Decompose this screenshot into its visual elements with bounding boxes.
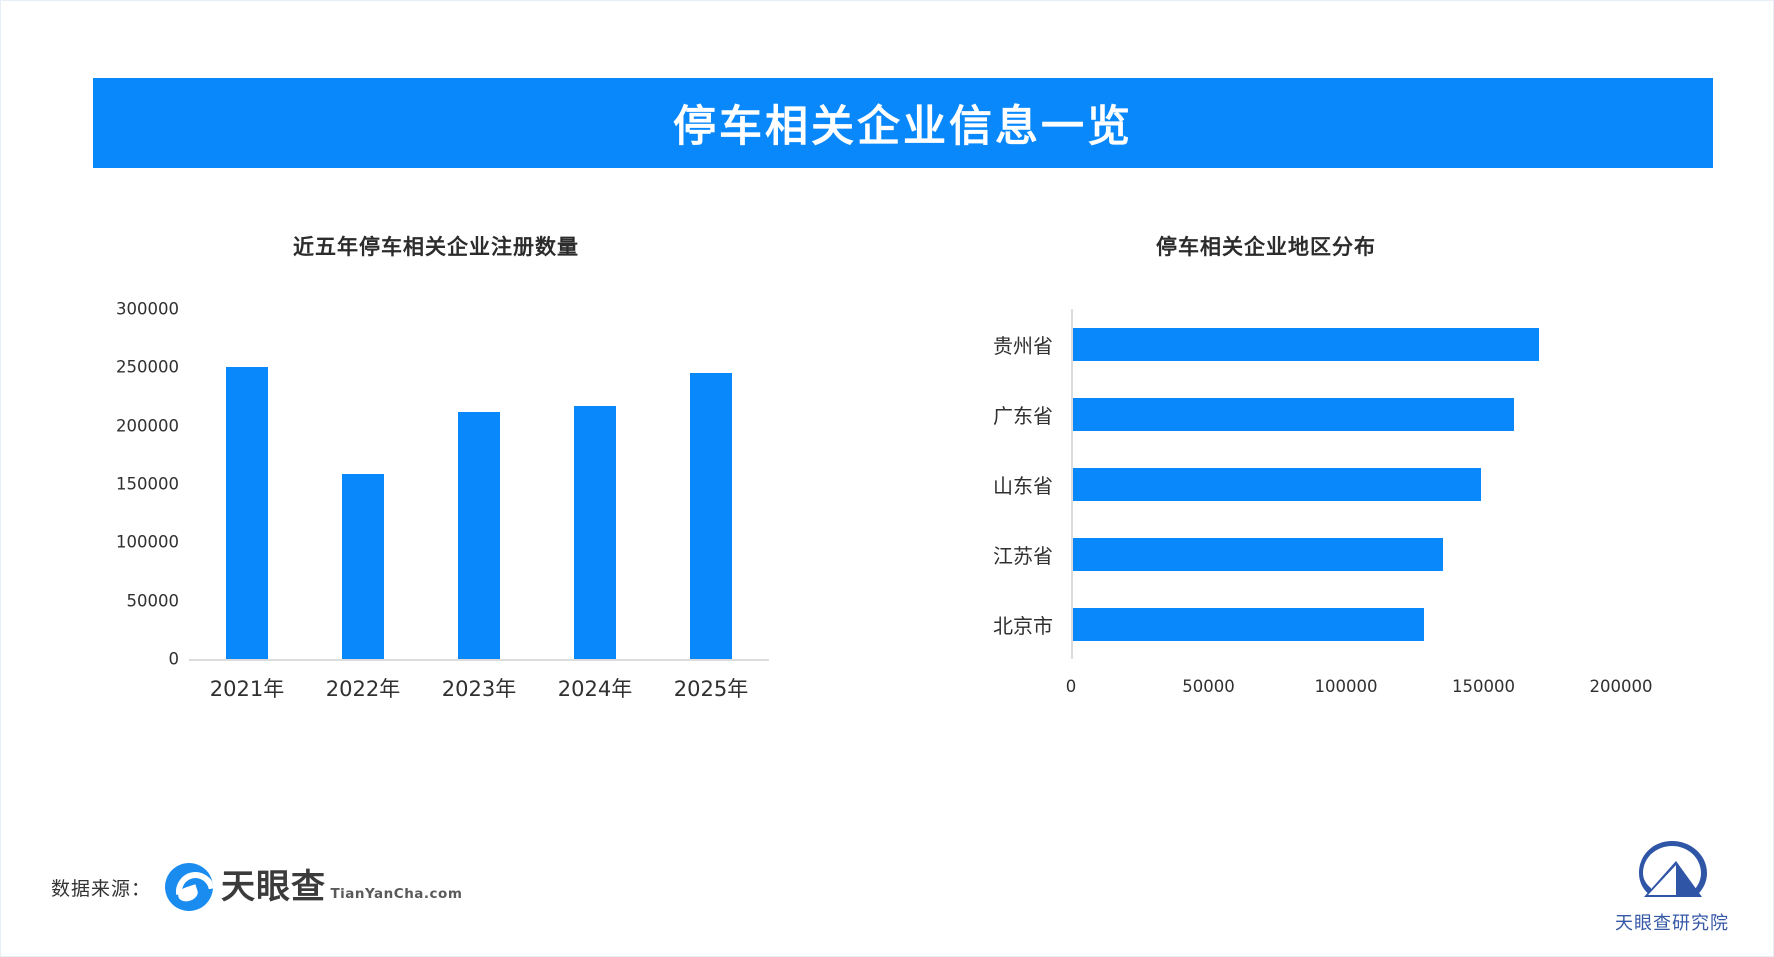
tianyancha-logo: 天眼查 TianYanCha.com xyxy=(165,863,462,911)
vbar-x-axis: 2021年2022年2023年2024年2025年 xyxy=(189,673,769,703)
hbar-category-label: 山东省 xyxy=(961,470,1071,499)
vbar-2024年 xyxy=(574,406,616,659)
vbar-y-tick: 200000 xyxy=(116,416,179,435)
vbar-y-tick: 100000 xyxy=(116,533,179,552)
hbar-row: 贵州省 xyxy=(961,309,1621,379)
vbar-y-tick: 0 xyxy=(169,650,180,669)
hbar-category-label: 江苏省 xyxy=(961,540,1071,569)
vbar-2023年 xyxy=(458,412,500,659)
vbar-column xyxy=(189,309,305,659)
vbar-x-tick: 2023年 xyxy=(421,673,537,703)
region-distribution-chart: 贵州省广东省山东省江苏省北京市 050000100000150000200000 xyxy=(961,309,1661,729)
header-banner: 停车相关企业信息一览 xyxy=(93,78,1713,168)
hbar-row: 北京市 xyxy=(961,589,1621,659)
institute-name: 天眼查研究院 xyxy=(1615,909,1729,935)
hbar-category-label: 贵州省 xyxy=(961,330,1071,359)
hbar-track xyxy=(1071,309,1621,379)
hbar-track xyxy=(1071,449,1621,519)
hbar-x-tick: 100000 xyxy=(1315,677,1378,696)
hbar-row: 广东省 xyxy=(961,379,1621,449)
registrations-bar-chart: 050000100000150000200000250000300000 202… xyxy=(93,309,793,729)
infographic-page: 停车相关企业信息一览 近五年停车相关企业注册数量 050000100000150… xyxy=(0,0,1774,957)
vbar-y-tick: 150000 xyxy=(116,475,179,494)
vbar-x-tick: 2021年 xyxy=(189,673,305,703)
vbar-y-tick: 250000 xyxy=(116,358,179,377)
vbar-2025年 xyxy=(690,373,732,659)
left-chart-title: 近五年停车相关企业注册数量 xyxy=(293,231,883,261)
institute-mountain-icon xyxy=(1636,839,1708,901)
hbar-row: 江苏省 xyxy=(961,519,1621,589)
vbar-x-tick: 2024年 xyxy=(537,673,653,703)
hbar-x-axis: 050000100000150000200000 xyxy=(1071,659,1621,699)
vbar-y-axis: 050000100000150000200000250000300000 xyxy=(93,309,179,659)
hbar-贵州省 xyxy=(1073,328,1539,361)
hbar-x-tick: 50000 xyxy=(1182,677,1235,696)
hbar-track xyxy=(1071,379,1621,449)
vbar-2022年 xyxy=(342,474,384,660)
hbar-track xyxy=(1071,589,1621,659)
vbar-y-tick: 50000 xyxy=(127,591,180,610)
vbar-column xyxy=(421,309,537,659)
page-title: 停车相关企业信息一览 xyxy=(673,92,1133,154)
vbar-column xyxy=(305,309,421,659)
hbar-x-tick: 200000 xyxy=(1590,677,1653,696)
vbar-column xyxy=(653,309,769,659)
data-source-label: 数据来源： xyxy=(51,874,151,901)
hbar-row: 山东省 xyxy=(961,449,1621,519)
right-chart-title: 停车相关企业地区分布 xyxy=(1156,231,1701,261)
hbar-track xyxy=(1071,519,1621,589)
vbar-plot-area xyxy=(189,309,769,661)
hbar-category-label: 广东省 xyxy=(961,400,1071,429)
vbar-x-tick: 2022年 xyxy=(305,673,421,703)
vbar-2021年 xyxy=(226,367,268,659)
hbar-category-label: 北京市 xyxy=(961,610,1071,639)
tianyancha-wordmark: 天眼查 TianYanCha.com xyxy=(221,870,462,904)
hbar-rows: 贵州省广东省山东省江苏省北京市 xyxy=(961,309,1621,659)
left-chart-panel: 近五年停车相关企业注册数量 05000010000015000020000025… xyxy=(93,231,883,791)
hbar-江苏省 xyxy=(1073,538,1443,571)
hbar-山东省 xyxy=(1073,468,1481,501)
tianyancha-name-cn: 天眼查 xyxy=(221,868,326,906)
vbar-column xyxy=(537,309,653,659)
tianyancha-eye-icon xyxy=(165,863,213,911)
tianyancha-name-en: TianYanCha.com xyxy=(330,886,462,902)
hbar-北京市 xyxy=(1073,608,1424,641)
hbar-x-tick: 150000 xyxy=(1452,677,1515,696)
data-source: 数据来源： 天眼查 TianYanCha.com xyxy=(51,863,462,911)
vbar-x-tick: 2025年 xyxy=(653,673,769,703)
institute-badge: 天眼查研究院 xyxy=(1597,839,1747,935)
vbar-y-tick: 300000 xyxy=(116,300,179,319)
hbar-x-tick: 0 xyxy=(1066,677,1077,696)
hbar-广东省 xyxy=(1073,398,1514,431)
right-chart-panel: 停车相关企业地区分布 贵州省广东省山东省江苏省北京市 0500001000001… xyxy=(961,231,1701,791)
